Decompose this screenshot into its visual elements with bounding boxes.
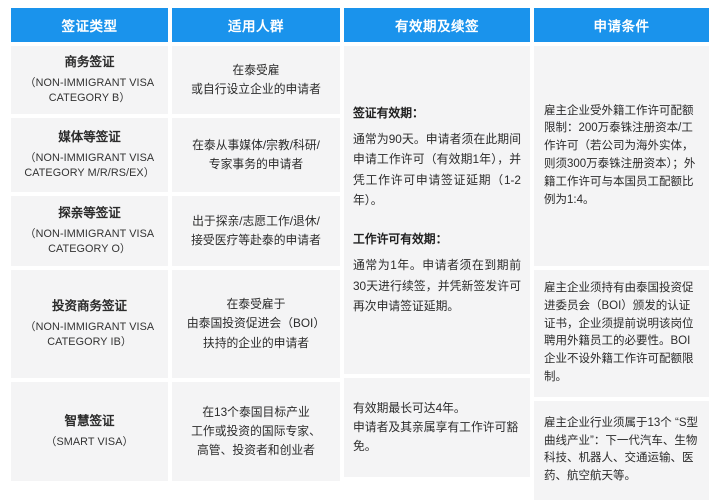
applicant-text-5: 在13个泰国目标产业 工作或投资的国际专家、 高管、投资者和创业者 (191, 403, 321, 460)
table-cell-visa-type-5: 智慧签证 （SMART VISA） (11, 382, 168, 481)
column-header-applicants: 适用人群 (172, 8, 340, 42)
conditions-text-4: 雇主企业须持有由泰国投资促进委员会（BOI）颁发的认证证书，企业须提前说明该岗位… (544, 280, 699, 387)
table-cell-applicants-3: 出于探亲/志愿工作/退休/ 接受医疗等赴泰的申请者 (172, 196, 340, 266)
column-applicants: 适用人群 在泰受雇 或自行设立企业的申请者 在泰从事媒体/宗教/科研/ 专家事务… (172, 8, 340, 491)
table-cell-conditions-merged-1-3: 雇主企业受外籍工作许可配额限制：200万泰铢注册资本/工作许可（若公司为海外实体… (534, 46, 709, 266)
column-header-conditions: 申请条件 (534, 8, 709, 42)
conditions-text-5: 雇主企业行业须属于13个 “S型曲线产业”：下一代汽车、生物科技、机器人、交通运… (544, 415, 699, 486)
visa-name-3: 探亲等签证 (58, 204, 121, 223)
table-cell-visa-type-3: 探亲等签证 （NON-IMMIGRANT VISA CATEGORY O） (11, 196, 168, 266)
visa-name-4: 投资商务签证 (52, 297, 127, 316)
validity-section-visa: 签证有效期： 通常为90天。申请者须在此期间申请工作许可（有效期1年），并凭工作… (353, 104, 521, 210)
validity-section-workpermit: 工作许可有效期： 通常为1年。申请者须在到期前30天进行续签，并凭新签发许可再次… (353, 230, 521, 316)
table-cell-applicants-2: 在泰从事媒体/宗教/科研/ 专家事务的申请者 (172, 118, 340, 192)
table-cell-conditions-4: 雇主企业须持有由泰国投资促进委员会（BOI）颁发的认证证书，企业须提前说明该岗位… (534, 270, 709, 397)
column-validity: 有效期及续签 签证有效期： 通常为90天。申请者须在此期间申请工作许可（有效期1… (344, 8, 530, 491)
column-conditions: 申请条件 雇主企业受外籍工作许可配额限制：200万泰铢注册资本/工作许可（若公司… (534, 8, 709, 491)
table-cell-visa-type-2: 媒体等签证 （NON-IMMIGRANT VISA CATEGORY M/R/R… (11, 118, 168, 192)
applicant-text-2: 在泰从事媒体/宗教/科研/ 专家事务的申请者 (192, 136, 320, 174)
conditions-text-merged: 雇主企业受外籍工作许可配额限制：200万泰铢注册资本/工作许可（若公司为海外实体… (544, 103, 699, 210)
visa-comparison-table: 签证类型 商务签证 （NON-IMMIGRANT VISA CATEGORY B… (0, 0, 720, 499)
visa-name-1: 商务签证 (64, 53, 114, 72)
table-cell-applicants-4: 在泰受雇于 由泰国投资促进会（BOI） 扶持的企业的申请者 (172, 270, 340, 378)
table-cell-applicants-1: 在泰受雇 或自行设立企业的申请者 (172, 46, 340, 114)
table-cell-visa-type-1: 商务签证 （NON-IMMIGRANT VISA CATEGORY B） (11, 46, 168, 114)
table-cell-conditions-5: 雇主企业行业须属于13个 “S型曲线产业”：下一代汽车、生物科技、机器人、交通运… (534, 401, 709, 500)
table-cell-validity-merged-1-4: 签证有效期： 通常为90天。申请者须在此期间申请工作许可（有效期1年），并凭工作… (344, 46, 530, 374)
visa-code-2: （NON-IMMIGRANT VISA CATEGORY M/R/RS/EX） (19, 151, 160, 182)
validity-visa-title: 签证有效期： (353, 104, 521, 122)
table-cell-validity-5: 有效期最长可达4年。 申请者及其亲属享有工作许可豁免。 (344, 378, 530, 477)
validity-text-5: 有效期最长可达4年。 申请者及其亲属享有工作许可豁免。 (353, 399, 521, 456)
column-header-visa-type: 签证类型 (11, 8, 168, 42)
column-header-validity: 有效期及续签 (344, 8, 530, 42)
visa-name-2: 媒体等签证 (58, 128, 121, 147)
visa-code-4: （NON-IMMIGRANT VISA CATEGORY IB） (19, 320, 160, 351)
visa-code-1: （NON-IMMIGRANT VISA CATEGORY B） (19, 76, 160, 107)
visa-name-5: 智慧签证 (64, 412, 114, 431)
visa-code-3: （NON-IMMIGRANT VISA CATEGORY O） (19, 227, 160, 258)
table-cell-applicants-5: 在13个泰国目标产业 工作或投资的国际专家、 高管、投资者和创业者 (172, 382, 340, 481)
validity-workpermit-body: 通常为1年。申请者须在到期前30天进行续签，并凭新签发许可再次申请签证延期。 (353, 255, 521, 316)
validity-workpermit-title: 工作许可有效期： (353, 230, 521, 248)
applicant-text-4: 在泰受雇于 由泰国投资促进会（BOI） 扶持的企业的申请者 (187, 295, 325, 352)
visa-code-5: （SMART VISA） (46, 435, 134, 451)
applicant-text-1: 在泰受雇 或自行设立企业的申请者 (191, 61, 321, 99)
applicant-text-3: 出于探亲/志愿工作/退休/ 接受医疗等赴泰的申请者 (191, 212, 321, 250)
column-visa-type: 签证类型 商务签证 （NON-IMMIGRANT VISA CATEGORY B… (11, 8, 168, 491)
validity-visa-body: 通常为90天。申请者须在此期间申请工作许可（有效期1年），并凭工作许可申请签证延… (353, 129, 521, 210)
table-grid: 签证类型 商务签证 （NON-IMMIGRANT VISA CATEGORY B… (11, 8, 709, 491)
table-cell-visa-type-4: 投资商务签证 （NON-IMMIGRANT VISA CATEGORY IB） (11, 270, 168, 378)
